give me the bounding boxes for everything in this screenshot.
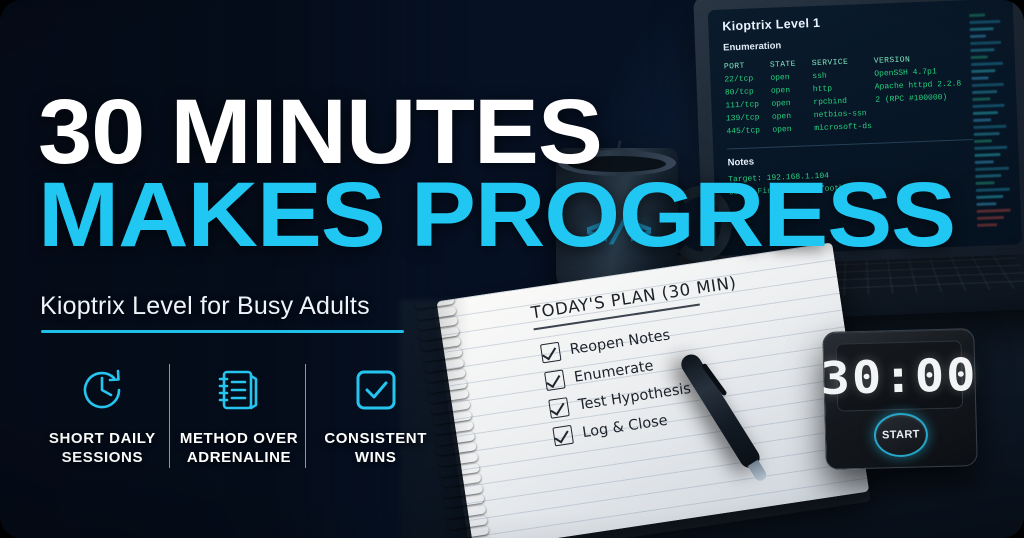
poster-canvas: Kioptrix Level 1 Enumeration PORT STATE … — [0, 0, 1024, 538]
terminal-title: Kioptrix Level 1 — [722, 10, 972, 34]
code-sidebar — [969, 13, 1017, 229]
checkbox-checked-icon — [540, 342, 562, 364]
feature-method-over-adrenaline: METHOD OVER ADRENALINE — [171, 362, 308, 468]
feature-consistent-wins: CONSISTENT WINS — [307, 362, 444, 468]
cell-service: microsoft-ds — [814, 120, 876, 135]
headline-line-1: 30 MINUTES — [38, 94, 579, 171]
port-scan-table: PORT STATE SERVICE VERSION 22/tcp open s… — [724, 52, 977, 139]
feature-label-line2: SESSIONS — [62, 449, 144, 466]
feature-label: SHORT DAILY SESSIONS — [49, 430, 156, 468]
list-item-label: Enumerate — [573, 358, 655, 386]
checkbox-checked-icon — [544, 369, 566, 391]
clock-arrow-icon — [78, 362, 126, 418]
feature-label-line1: CONSISTENT — [324, 430, 427, 447]
notebook-icon — [216, 362, 262, 418]
subtitle-underline — [41, 330, 404, 333]
checkbox-checked-icon — [548, 397, 570, 419]
start-button[interactable]: START — [873, 412, 928, 457]
list-item-label: Log & Close — [581, 412, 668, 441]
list-item-label: Test Hypothesis — [577, 380, 692, 413]
feature-label-line2: WINS — [355, 449, 397, 466]
timer-display: 30:00 — [820, 347, 978, 404]
headline: 30 MINUTES MAKES PROGRESS — [38, 94, 548, 255]
cell-state: open — [772, 123, 814, 138]
text-column: 30 MINUTES MAKES PROGRESS Kioptrix Level… — [0, 0, 540, 538]
feature-label-line1: METHOD OVER — [180, 430, 298, 447]
cell-version — [876, 117, 976, 134]
headline-line-2: MAKES PROGRESS — [38, 177, 579, 254]
feature-label-line2: ADRENALINE — [187, 449, 291, 466]
checkbox-check-icon — [353, 362, 399, 418]
timer-body: 30:00 START — [822, 328, 978, 470]
list-item-label: Reopen Notes — [569, 327, 671, 358]
start-button-label: START — [882, 428, 920, 441]
countdown-timer: 30:00 START — [822, 328, 978, 470]
terminal-section-heading: Enumeration — [723, 33, 973, 54]
terminal-divider — [727, 139, 973, 149]
feature-label-line1: SHORT DAILY — [49, 430, 156, 447]
timer-lcd-screen: 30:00 — [836, 340, 964, 411]
feature-label: CONSISTENT WINS — [324, 430, 427, 468]
feature-list: SHORT DAILY SESSIONS — [34, 362, 444, 468]
feature-short-daily-sessions: SHORT DAILY SESSIONS — [34, 362, 171, 468]
checklist: Reopen Notes Enumerate Test Hypothesis L… — [540, 323, 698, 455]
feature-label: METHOD OVER ADRENALINE — [180, 430, 298, 468]
checkbox-checked-icon — [552, 425, 574, 447]
cell-port: 445/tcp — [726, 124, 772, 139]
subtitle: Kioptrix Level for Busy Adults — [40, 292, 370, 321]
